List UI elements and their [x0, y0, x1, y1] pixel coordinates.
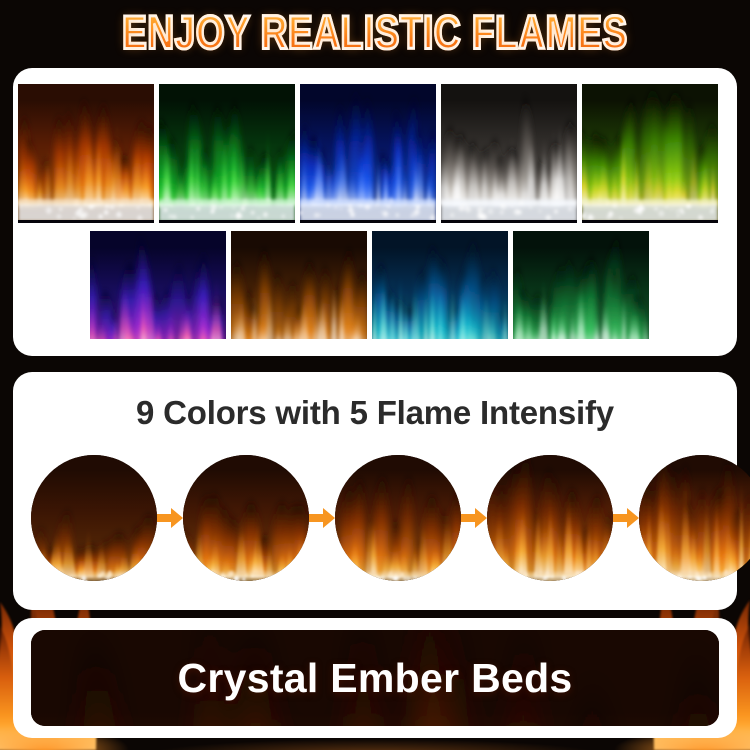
arrow-right-icon [461, 507, 487, 529]
flame-texture [513, 231, 649, 339]
page-title: ENJOY REALISTIC FLAMES [122, 6, 628, 59]
crystal-ember-panel: Crystal Ember Beds [13, 618, 737, 738]
ember-caption: Crystal Ember Beds [177, 655, 572, 702]
intensity-step-1 [31, 455, 157, 581]
flame-swatch-blue [300, 84, 436, 223]
flame-swatch-mint-green [513, 231, 649, 339]
flame-swatch-green [159, 84, 295, 223]
ember-banner-image: Crystal Ember Beds [31, 630, 719, 726]
flame-texture [639, 455, 750, 581]
flame-texture [183, 455, 309, 581]
intensity-step-2 [183, 455, 309, 581]
flame-swatch-row-top [18, 84, 718, 223]
flame-texture [18, 84, 154, 220]
flame-texture [300, 84, 436, 220]
flame-texture [159, 84, 295, 220]
flame-colors-panel: 9 Colors with 5 Flame Intensify [13, 372, 737, 610]
flame-swatch-aqua-blue [372, 231, 508, 339]
arrow-right-icon [613, 507, 639, 529]
header: ENJOY REALISTIC FLAMES [0, 0, 750, 66]
flame-swatch-green-gold [582, 84, 718, 223]
flame-swatch-row-bottom [90, 231, 649, 339]
flame-texture [31, 455, 157, 581]
flame-swatch-white [441, 84, 577, 223]
flame-texture [582, 84, 718, 220]
flame-texture [487, 455, 613, 581]
arrow-right-icon [309, 507, 335, 529]
arrow-right-icon [157, 507, 183, 529]
flame-texture [90, 231, 226, 339]
colors-panel-heading: 9 Colors with 5 Flame Intensify [13, 394, 737, 432]
intensity-step-3 [335, 455, 461, 581]
flame-swatch-amber-white [231, 231, 367, 339]
flame-swatch-violet-rose [90, 231, 226, 339]
flame-swatch-orange [18, 84, 154, 223]
intensity-step-4 [487, 455, 613, 581]
flame-texture [335, 455, 461, 581]
flame-texture [372, 231, 508, 339]
intensity-progression-row [31, 450, 719, 586]
flame-gallery-panel [13, 68, 737, 356]
flame-texture [231, 231, 367, 339]
intensity-step-5 [639, 455, 750, 581]
flame-texture [441, 84, 577, 220]
